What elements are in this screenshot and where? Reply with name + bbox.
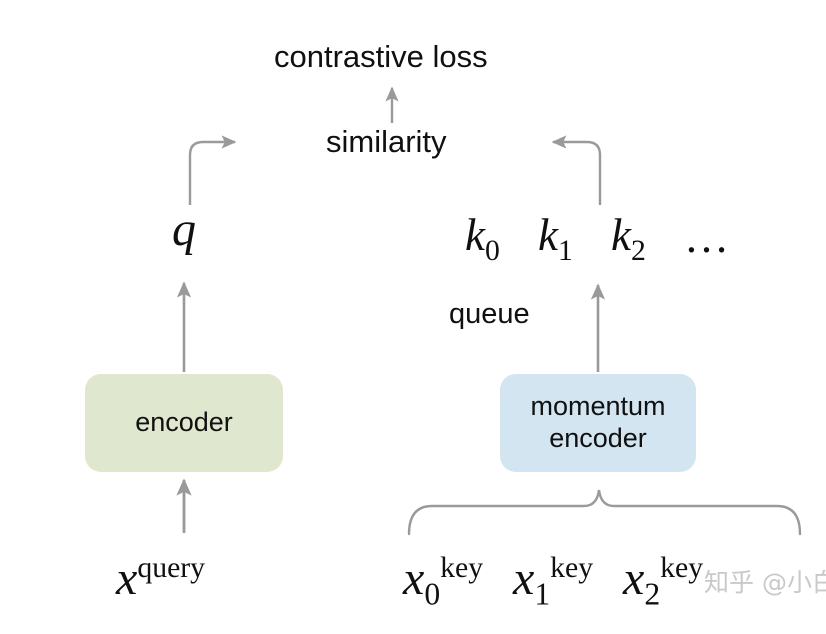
encoder-box[interactable]: encoder [85,374,283,472]
key-k1-subscript: 1 [558,235,573,267]
x-key1-superscript: key [550,551,593,584]
key-k2-subscript: 2 [631,235,646,267]
momentum-encoder-box[interactable]: momentum encoder [500,374,696,472]
x-query-symbol: xquery [116,553,205,603]
x-key1-base: x [513,552,534,605]
key-k1-symbol: k1 [538,213,573,267]
brace-key-samples [409,490,800,534]
key-k0-symbol: k0 [465,213,500,267]
x-key2-symbol: x2key [623,553,703,610]
x-query-superscript: query [137,551,205,584]
momentum-encoder-box-label-line1: momentum [530,391,665,423]
key-k0-base: k [465,210,485,260]
key-k1-base: k [538,210,558,260]
arrow-q-to-similarity [190,142,235,205]
x-key0-base: x [403,552,424,605]
similarity-label: similarity [326,126,447,157]
x-key2-base: x [623,552,644,605]
moco-diagram-figure: contrastive loss similarity queue q k0 k… [0,0,826,634]
connector-layer [0,0,826,634]
q-symbol: q [172,206,196,254]
key-k2-symbol: k2 [611,213,646,267]
x-key2-subscript: 2 [644,577,660,612]
x-key1-symbol: x1key [513,553,593,610]
q-symbol-text: q [172,203,196,256]
key-ellipsis: … [684,215,729,260]
key-ellipsis-text: … [684,212,729,262]
x-query-base: x [116,552,137,605]
key-k2-base: k [611,210,631,260]
x-key0-symbol: x0key [403,553,483,610]
x-key0-superscript: key [440,551,483,584]
queue-label: queue [449,300,530,329]
x-key1-subscript: 1 [534,577,550,612]
encoder-box-label: encoder [135,407,233,439]
watermark: 知乎 @小白 [704,570,826,595]
contrastive-loss-label: contrastive loss [274,41,488,72]
x-key0-subscript: 0 [424,577,440,612]
key-k0-subscript: 0 [485,235,500,267]
x-key2-superscript: key [660,551,703,584]
arrow-keys-to-similarity [553,142,600,205]
momentum-encoder-box-label-line2: encoder [549,423,647,455]
